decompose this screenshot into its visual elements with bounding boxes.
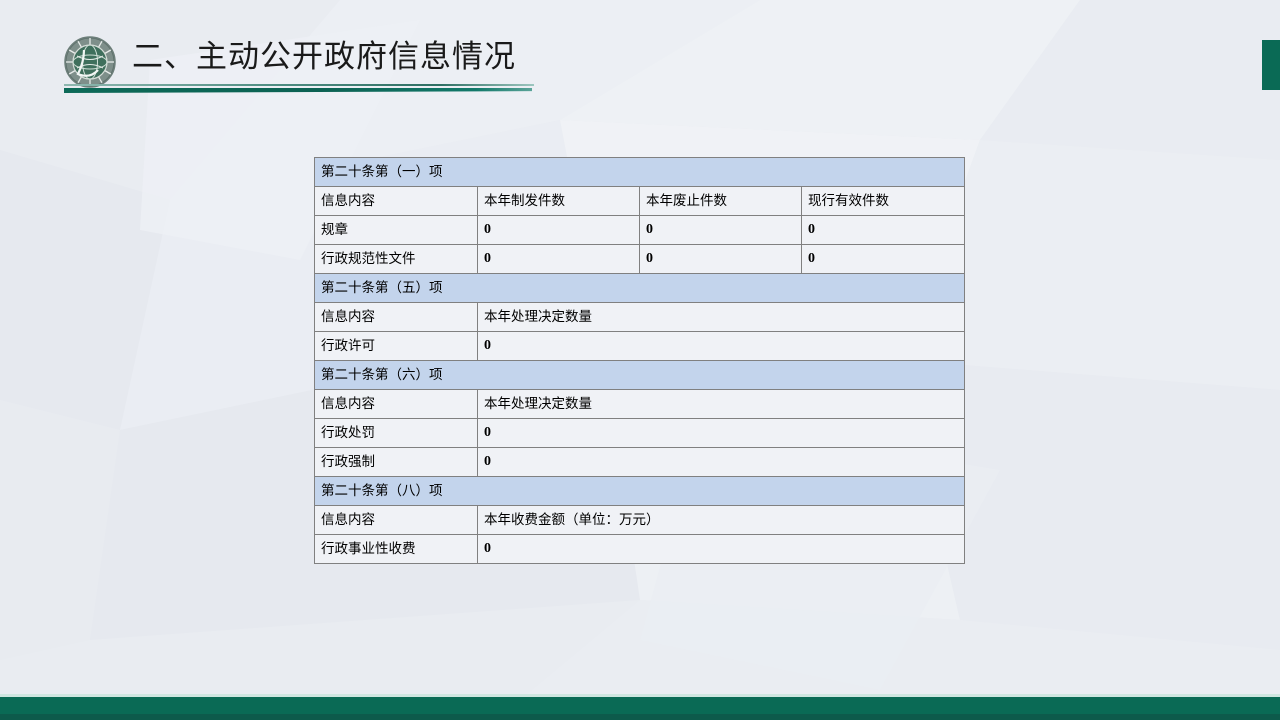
table-row: 信息内容本年收费金额（单位：万元）: [315, 506, 965, 535]
column-header-cell: 现行有效件数: [802, 187, 965, 216]
value-cell: 0: [478, 245, 640, 274]
table-section-row: 第二十条第（六）项: [315, 361, 965, 390]
table-section-row: 第二十条第（五）项: [315, 274, 965, 303]
section-title-cell: 第二十条第（五）项: [315, 274, 965, 303]
page-title: 二、主动公开政府信息情况: [132, 32, 516, 82]
value-cell: 0: [802, 216, 965, 245]
agency-emblem-icon: [64, 36, 116, 88]
value-cell: 0: [802, 245, 965, 274]
slide-canvas: 二、主动公开政府信息情况 第二十条第（一）项信息内容本年制发件数本年废止件数现行…: [0, 0, 1280, 720]
row-label-cell: 行政规范性文件: [315, 245, 478, 274]
column-header-cell: 本年处理决定数量: [478, 390, 965, 419]
table-row: 信息内容本年处理决定数量: [315, 303, 965, 332]
row-label-cell: 信息内容: [315, 506, 478, 535]
row-label-cell: 规章: [315, 216, 478, 245]
row-label-cell: 信息内容: [315, 303, 478, 332]
column-header-cell: 本年收费金额（单位：万元）: [478, 506, 965, 535]
value-cell: 0: [478, 216, 640, 245]
government-info-disclosure-table: 第二十条第（一）项信息内容本年制发件数本年废止件数现行有效件数规章000行政规范…: [314, 157, 965, 564]
column-header-cell: 本年废止件数: [640, 187, 802, 216]
table-row: 行政规范性文件000: [315, 245, 965, 274]
footer-bar: [0, 697, 1280, 714]
slide-header: 二、主动公开政府信息情况: [62, 30, 542, 92]
table-row: 行政许可0: [315, 332, 965, 361]
value-cell: 0: [478, 535, 965, 564]
value-cell: 0: [478, 448, 965, 477]
table-row: 信息内容本年处理决定数量: [315, 390, 965, 419]
column-header-cell: 本年处理决定数量: [478, 303, 965, 332]
column-header-cell: 本年制发件数: [478, 187, 640, 216]
section-title-cell: 第二十条第（六）项: [315, 361, 965, 390]
value-cell: 0: [478, 419, 965, 448]
row-label-cell: 行政许可: [315, 332, 478, 361]
right-edge-accent-tab: [1262, 40, 1280, 90]
value-cell: 0: [640, 245, 802, 274]
section-title-cell: 第二十条第（八）项: [315, 477, 965, 506]
table-row: 行政强制0: [315, 448, 965, 477]
table-section-row: 第二十条第（一）项: [315, 158, 965, 187]
table-row: 规章000: [315, 216, 965, 245]
table-row: 行政处罚0: [315, 419, 965, 448]
row-label-cell: 行政事业性收费: [315, 535, 478, 564]
footer-bar-shadow: [0, 714, 1280, 720]
value-cell: 0: [478, 332, 965, 361]
row-label-cell: 行政处罚: [315, 419, 478, 448]
row-label-cell: 行政强制: [315, 448, 478, 477]
table-row: 行政事业性收费0: [315, 535, 965, 564]
value-cell: 0: [640, 216, 802, 245]
row-label-cell: 信息内容: [315, 187, 478, 216]
row-label-cell: 信息内容: [315, 390, 478, 419]
table-body: 第二十条第（一）项信息内容本年制发件数本年废止件数现行有效件数规章000行政规范…: [315, 158, 965, 564]
section-title-cell: 第二十条第（一）项: [315, 158, 965, 187]
title-underline-light: [64, 84, 534, 86]
table-section-row: 第二十条第（八）项: [315, 477, 965, 506]
table-row: 信息内容本年制发件数本年废止件数现行有效件数: [315, 187, 965, 216]
